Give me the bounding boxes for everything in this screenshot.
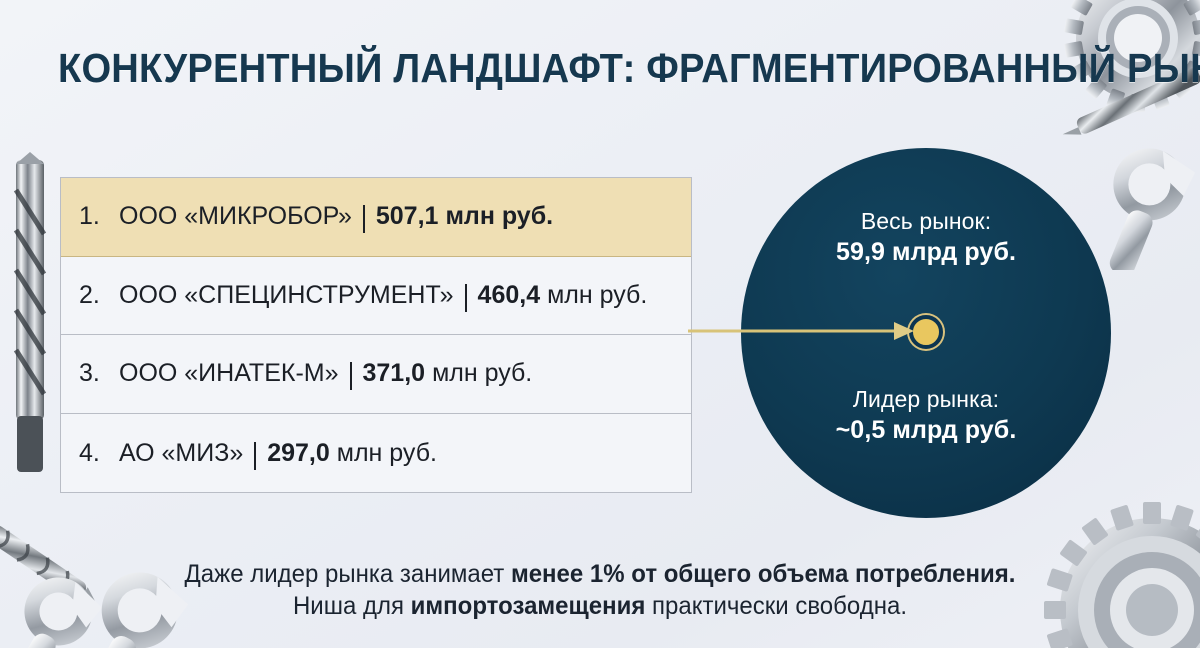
row-company: АО «МИЗ»: [119, 439, 243, 468]
caption-line1-emphasis: менее 1% от общего объема потребления.: [511, 560, 1015, 588]
row-divider-icon: [254, 442, 256, 470]
row-amount: 460,4: [478, 281, 541, 310]
decoration-top-right-tools: [1020, 0, 1200, 185]
connector-arrow-icon: [688, 316, 918, 346]
row-unit: млн руб.: [432, 359, 532, 388]
row-rank: 3.: [79, 359, 119, 388]
table-row[interactable]: 4. АО «МИЗ» 297,0 млн руб.: [61, 414, 691, 493]
competitor-ranking-table: 1. ООО «МИКРОБОР» 507,1 млн руб. 2. ООО …: [60, 177, 692, 493]
row-amount: 371,0: [363, 359, 426, 388]
row-company: ООО «МИКРОБОР»: [119, 202, 352, 231]
leader-market-value: ~0,5 млрд руб.: [741, 414, 1111, 447]
whole-market-block: Весь рынок: 59,9 млрд руб.: [741, 206, 1111, 269]
table-row[interactable]: 3. ООО «ИНАТЕК-М» 371,0 млн руб.: [61, 335, 691, 414]
row-company: ООО «СПЕЦИНСТРУМЕНТ»: [119, 281, 454, 310]
row-rank: 1.: [79, 202, 119, 231]
row-rank: 4.: [79, 439, 119, 468]
row-company: ООО «ИНАТЕК-М»: [119, 359, 339, 388]
whole-market-value: 59,9 млрд руб.: [741, 236, 1111, 269]
caption-line2-text-a: Ниша для: [293, 592, 411, 620]
row-unit: млн руб.: [337, 439, 437, 468]
whole-market-label: Весь рынок:: [741, 206, 1111, 236]
table-row[interactable]: 1. ООО «МИКРОБОР» 507,1 млн руб.: [61, 178, 691, 257]
table-row[interactable]: 2. ООО «СПЕЦИНСТРУМЕНТ» 460,4 млн руб.: [61, 257, 691, 336]
decoration-left-drill-bit: [2, 150, 60, 480]
caption-line-2: Ниша для импортозамещения практически св…: [24, 590, 1176, 622]
leader-market-block: Лидер рынка: ~0,5 млрд руб.: [741, 384, 1111, 447]
row-divider-icon: [350, 362, 352, 390]
caption-line2-emphasis: импортозамещения: [411, 592, 646, 620]
row-divider-icon: [363, 205, 365, 233]
row-divider-icon: [465, 284, 467, 312]
row-unit: млн руб.: [547, 281, 647, 310]
slide-root: КОНКУРЕНТНЫЙ ЛАНДШАФТ: ФРАГМЕНТИРОВАННЫЙ…: [0, 0, 1200, 648]
row-rank: 2.: [79, 281, 119, 310]
caption-line1-text: Даже лидер рынка занимает: [185, 560, 511, 588]
row-amount: 297,0: [267, 439, 330, 468]
caption-line-1: Даже лидер рынка занимает менее 1% от об…: [24, 558, 1176, 590]
row-amount: 507,1: [376, 202, 439, 231]
caption-line2-text-b: практически свободна.: [645, 592, 907, 620]
decoration-top-right-wrench: [1096, 140, 1200, 270]
leader-market-label: Лидер рынка:: [741, 384, 1111, 414]
page-title: КОНКУРЕНТНЫЙ ЛАНДШАФТ: ФРАГМЕНТИРОВАННЫЙ…: [58, 46, 1062, 91]
summary-caption: Даже лидер рынка занимает менее 1% от об…: [24, 558, 1176, 622]
row-unit: млн руб.: [445, 202, 553, 231]
